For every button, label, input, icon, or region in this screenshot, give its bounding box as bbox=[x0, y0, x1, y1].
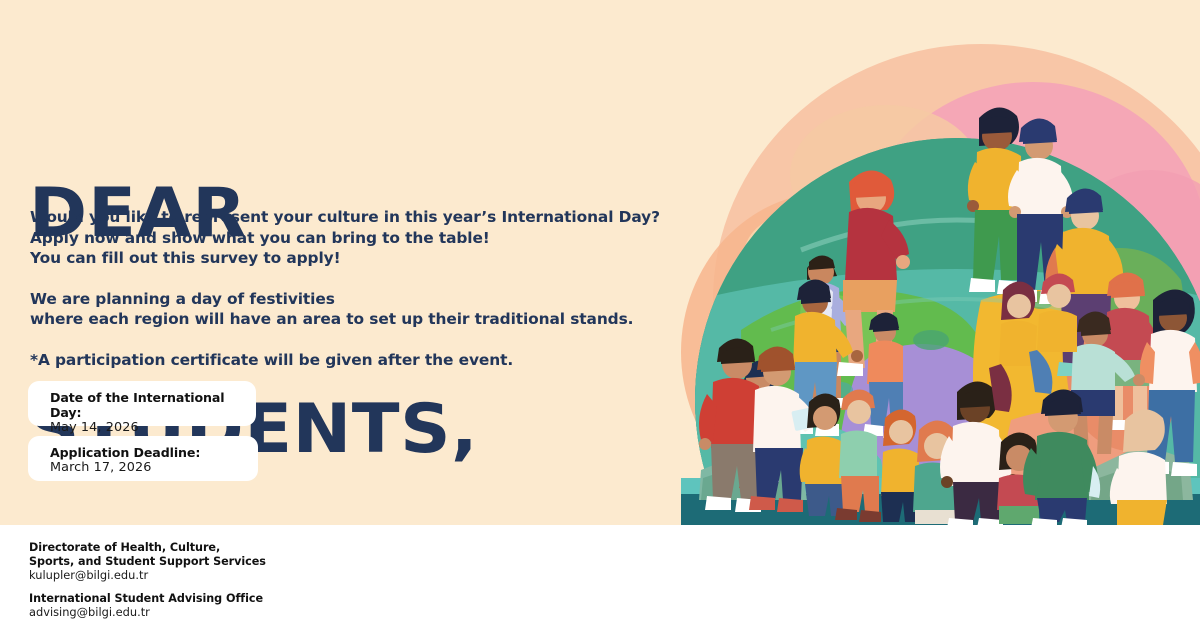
body-line-5: where each region will have an area to s… bbox=[30, 309, 670, 330]
contact-email[interactable]: advising@bilgi.edu.tr bbox=[29, 605, 266, 620]
contact-name-line-1: Directorate of Health, Culture, bbox=[29, 541, 266, 555]
contact-name-line-2: Sports, and Student Support Services bbox=[29, 555, 266, 569]
contact-name-line-1: International Student Advising Office bbox=[29, 592, 266, 606]
info-card-value: March 17, 2026 bbox=[50, 460, 258, 475]
body-line-6: *A participation certificate will be giv… bbox=[30, 350, 670, 371]
contact-directorate: Directorate of Health, Culture, Sports, … bbox=[29, 541, 266, 583]
contact-email[interactable]: kulupler@bilgi.edu.tr bbox=[29, 568, 266, 583]
contact-advising-office: International Student Advising Office ad… bbox=[29, 592, 266, 620]
info-card-label: Date of the International Day: bbox=[50, 390, 256, 420]
paragraph-spacer bbox=[30, 269, 670, 289]
poster-canvas: DEAR STUDENTS, Would you like to represe… bbox=[0, 0, 1200, 628]
info-card-application-deadline: Application Deadline: March 17, 2026 bbox=[28, 436, 258, 481]
paragraph-spacer bbox=[30, 330, 670, 350]
body-line-2: Apply now and show what you can bring to… bbox=[30, 228, 670, 249]
footer-contacts: Directorate of Health, Culture, Sports, … bbox=[29, 541, 266, 620]
body-line-3: You can fill out this survey to apply! bbox=[30, 248, 670, 269]
globe-people-illustration bbox=[681, 0, 1200, 525]
footer: Directorate of Health, Culture, Sports, … bbox=[0, 525, 1200, 628]
info-card-label: Application Deadline: bbox=[50, 445, 258, 460]
body-copy: Would you like to represent your culture… bbox=[30, 207, 670, 370]
body-line-4: We are planning a day of festivities bbox=[30, 289, 670, 310]
info-card-value: May 14, 2026 bbox=[50, 420, 256, 435]
info-card-event-date: Date of the International Day: May 14, 2… bbox=[28, 381, 256, 426]
body-line-1: Would you like to represent your culture… bbox=[30, 207, 670, 228]
